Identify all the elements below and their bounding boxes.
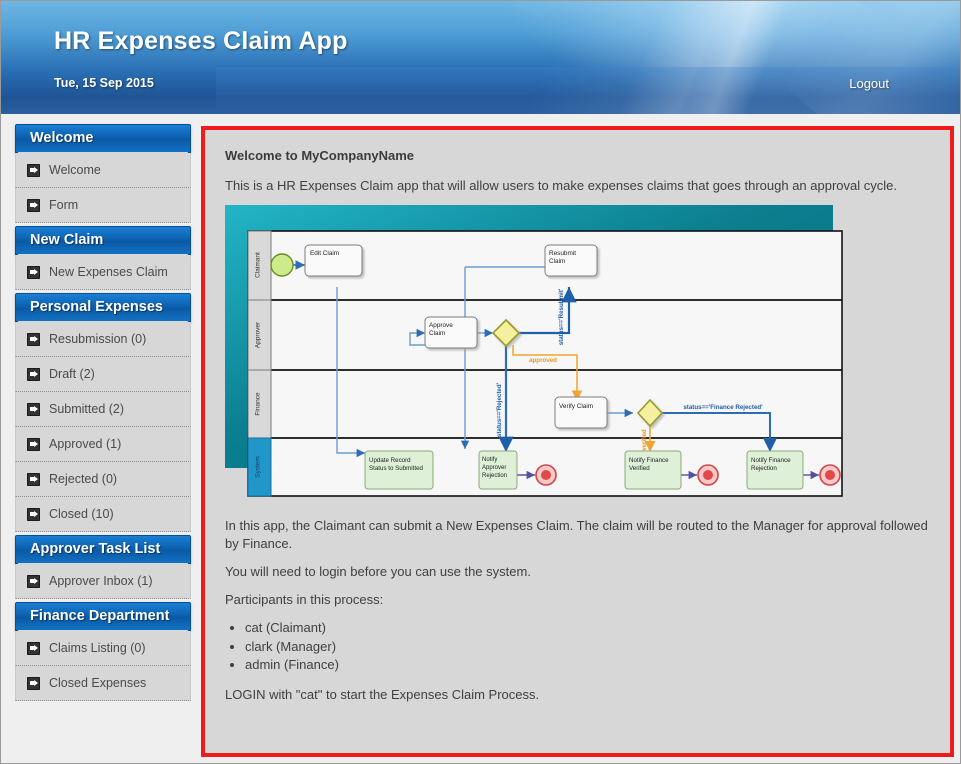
sidebar-item-label: Form (49, 198, 78, 212)
sidebar: WelcomeWelcomeFormNew ClaimNew Expenses … (15, 124, 191, 701)
sidebar-item-label: Resubmission (0) (49, 332, 146, 346)
flow-label-status-resubmit: status=='Resubmit' (558, 288, 565, 345)
sidebar-item-label: Approved (1) (49, 437, 121, 451)
sidebar-item-approved-1[interactable]: Approved (1) (15, 427, 191, 462)
lane-label-claimant: Claimant (255, 252, 262, 278)
arrow-right-icon (27, 368, 40, 381)
app-header: HR Expenses Claim App Tue, 15 Sep 2015 L… (1, 1, 960, 114)
svg-text:Claim: Claim (429, 330, 445, 337)
svg-text:Claim: Claim (549, 258, 565, 265)
sidebar-item-label: New Expenses Claim (49, 265, 168, 279)
welcome-heading: Welcome to MyCompanyName (225, 148, 930, 163)
logout-button[interactable]: Logout (849, 76, 889, 91)
svg-text:Approver: Approver (482, 465, 506, 471)
flow-label-verified: verified (642, 429, 648, 451)
main-content-panel: Welcome to MyCompanyName This is a HR Ex… (201, 126, 954, 757)
sidebar-section-header: Welcome (15, 124, 191, 153)
svg-text:Approve: Approve (429, 322, 453, 329)
participants-list: cat (Claimant)clark (Manager)admin (Fina… (245, 619, 930, 676)
flow-label-status-rejected: status=='Rejected' (496, 382, 503, 437)
flow-label-approved: approved (529, 357, 557, 364)
intro-paragraph: This is a HR Expenses Claim app that wil… (225, 177, 930, 195)
participants-heading: Participants in this process: (225, 591, 930, 609)
svg-text:Notify: Notify (482, 457, 497, 463)
sidebar-item-label: Approver Inbox (1) (49, 574, 153, 588)
sidebar-item-label: Closed Expenses (49, 676, 146, 690)
arrow-right-icon (27, 438, 40, 451)
routing-paragraph: In this app, the Claimant can submit a N… (225, 517, 930, 553)
list-item: clark (Manager) (245, 638, 930, 657)
lane-label-system: System (255, 456, 262, 478)
sidebar-item-new-expenses-claim[interactable]: New Expenses Claim (15, 255, 191, 290)
svg-text:Notify Finance: Notify Finance (629, 457, 669, 464)
flow-label-status-finance-rejected: status=='Finance Rejected' (683, 404, 763, 411)
login-note: LOGIN with "cat" to start the Expenses C… (225, 687, 930, 702)
sidebar-section-header: Approver Task List (15, 535, 191, 564)
sidebar-item-rejected-0[interactable]: Rejected (0) (15, 462, 191, 497)
svg-text:Status to Submitted: Status to Submitted (369, 465, 424, 472)
svg-text:Verify Claim: Verify Claim (559, 403, 593, 410)
sidebar-item-submitted-2[interactable]: Submitted (2) (15, 392, 191, 427)
list-item: cat (Claimant) (245, 619, 930, 638)
sidebar-item-form[interactable]: Form (15, 188, 191, 223)
sidebar-item-closed-expenses[interactable]: Closed Expenses (15, 666, 191, 701)
arrow-right-icon (27, 473, 40, 486)
sidebar-item-resubmission-0[interactable]: Resubmission (0) (15, 322, 191, 357)
bpmn-task-verify-claim (555, 397, 607, 428)
bpmn-end-event (820, 465, 840, 485)
svg-text:Rejection: Rejection (482, 473, 507, 479)
arrow-right-icon (27, 266, 40, 279)
bpmn-svg-canvas: Claimant Approver Finance System (225, 205, 843, 505)
sidebar-item-welcome[interactable]: Welcome (15, 153, 191, 188)
current-date: Tue, 15 Sep 2015 (54, 76, 154, 90)
bpmn-start-event (271, 254, 293, 276)
svg-text:Notify Finance: Notify Finance (751, 457, 791, 464)
login-paragraph: You will need to login before you can us… (225, 563, 930, 581)
list-item: admin (Finance) (245, 656, 930, 675)
sidebar-item-label: Claims Listing (0) (49, 641, 146, 655)
sidebar-section-header: Finance Department (15, 602, 191, 631)
arrow-right-icon (27, 164, 40, 177)
sidebar-item-label: Welcome (49, 163, 101, 177)
sidebar-item-draft-2[interactable]: Draft (2) (15, 357, 191, 392)
svg-text:Verified: Verified (629, 465, 650, 472)
app-page: HR Expenses Claim App Tue, 15 Sep 2015 L… (0, 0, 961, 764)
sidebar-item-label: Submitted (2) (49, 402, 124, 416)
svg-text:Update Record: Update Record (369, 457, 411, 464)
sidebar-section-header: Personal Expenses (15, 293, 191, 322)
sidebar-item-claims-listing-0[interactable]: Claims Listing (0) (15, 631, 191, 666)
sidebar-item-closed-10[interactable]: Closed (10) (15, 497, 191, 532)
arrow-right-icon (27, 508, 40, 521)
sidebar-item-label: Draft (2) (49, 367, 95, 381)
arrow-right-icon (27, 677, 40, 690)
bpmn-end-event (536, 465, 556, 485)
page-title: HR Expenses Claim App (54, 27, 348, 56)
arrow-right-icon (27, 403, 40, 416)
sidebar-item-label: Closed (10) (49, 507, 114, 521)
lane-label-approver: Approver (255, 321, 262, 348)
svg-text:Edit Claim: Edit Claim (310, 250, 339, 257)
sidebar-section-header: New Claim (15, 226, 191, 255)
lane-label-finance: Finance (255, 392, 262, 416)
bpmn-process-diagram: Claimant Approver Finance System (225, 205, 843, 505)
svg-text:Rejection: Rejection (751, 465, 777, 472)
sidebar-item-approver-inbox-1[interactable]: Approver Inbox (1) (15, 564, 191, 599)
arrow-right-icon (27, 199, 40, 212)
arrow-right-icon (27, 642, 40, 655)
arrow-right-icon (27, 575, 40, 588)
bpmn-end-event (698, 465, 718, 485)
arrow-right-icon (27, 333, 40, 346)
svg-text:Resubmit: Resubmit (549, 250, 576, 257)
sidebar-item-label: Rejected (0) (49, 472, 117, 486)
